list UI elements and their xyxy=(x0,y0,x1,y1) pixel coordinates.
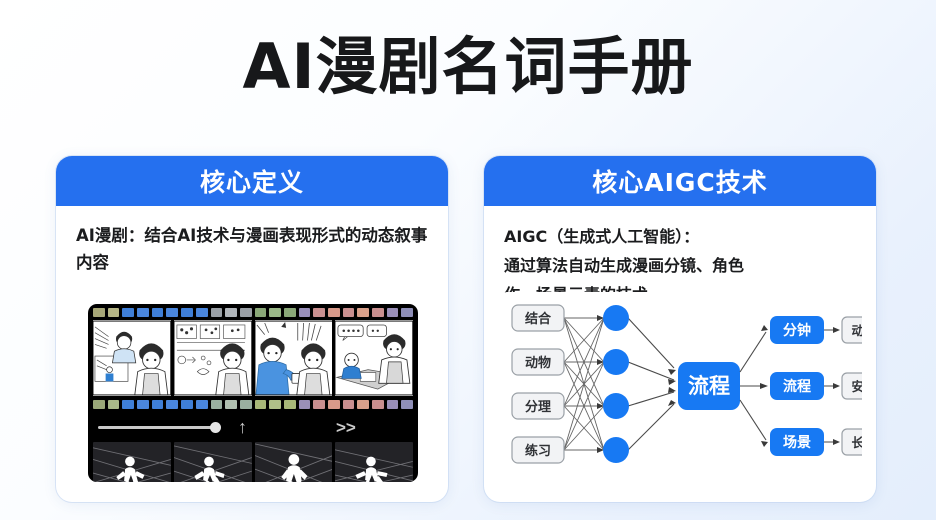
sprocket-square xyxy=(328,400,340,409)
sprocket-square xyxy=(122,400,134,409)
motion-frame xyxy=(93,442,171,482)
sprocket-square xyxy=(108,308,120,317)
diagram-mid-label: 场景 xyxy=(783,435,811,451)
card-header-core-aigc-tech: 核心AIGC技术 xyxy=(484,156,876,206)
comic-panel-art-4 xyxy=(335,320,413,396)
sprocket-square xyxy=(313,308,325,317)
sprocket-square xyxy=(225,400,237,409)
sprocket-square xyxy=(137,308,149,317)
diagram-mid-label: 分钟 xyxy=(783,322,811,339)
playback-control-bar: ↑ >> xyxy=(88,412,418,442)
motion-frame xyxy=(255,442,333,482)
sprocket-square xyxy=(93,308,105,317)
hidden-node xyxy=(603,393,629,419)
sprocket-square xyxy=(372,308,384,317)
sprocket-square xyxy=(196,400,208,409)
sprocket-square xyxy=(299,400,311,409)
sprocket-square xyxy=(152,400,164,409)
comic-panel-row xyxy=(88,320,418,396)
definition-text: AI漫剧：结合AI技术与漫画表现形式的动态叙事内容 xyxy=(76,222,428,276)
walking-person-icon xyxy=(93,442,171,482)
sprocket-square xyxy=(284,400,296,409)
sprocket-square xyxy=(284,308,296,317)
timeline-slider-knob[interactable] xyxy=(210,422,221,433)
sprocket-square xyxy=(137,400,149,409)
diagram-final-label: 动态 xyxy=(851,323,862,338)
sprocket-square xyxy=(313,400,325,409)
sprocket-square xyxy=(343,400,355,409)
sprocket-square xyxy=(357,308,369,317)
sprocket-square xyxy=(122,308,134,317)
sprocket-square xyxy=(108,400,120,409)
comic-panel xyxy=(335,320,413,396)
card-body-core-definition: AI漫剧：结合AI技术与漫画表现形式的动态叙事内容 xyxy=(56,206,448,276)
hidden-node xyxy=(603,437,629,463)
sprocket-square xyxy=(93,400,105,409)
sprocket-square xyxy=(401,308,413,317)
sprocket-square xyxy=(240,308,252,317)
sprocket-square xyxy=(255,400,267,409)
sprocket-square xyxy=(269,308,281,317)
diagram-mid-label: 流程 xyxy=(783,378,811,395)
film-strip-media: ↑ >> xyxy=(88,304,418,482)
sprocket-square xyxy=(387,400,399,409)
diagram-input-label: 动物 xyxy=(525,355,551,371)
sprocket-square xyxy=(343,308,355,317)
motion-frame xyxy=(335,442,413,482)
comic-panel-art-1 xyxy=(93,320,171,396)
sprocket-square xyxy=(211,308,223,317)
neural-flow-diagram: 结合 动物 分理 练习 xyxy=(498,292,862,488)
sprocket-square xyxy=(269,400,281,409)
comic-panel xyxy=(93,320,171,396)
diagram-input-label: 练习 xyxy=(525,443,551,459)
sprocket-square xyxy=(152,308,164,317)
walking-person-icon xyxy=(255,442,333,482)
motion-frame xyxy=(174,442,252,482)
fast-forward-icon[interactable]: >> xyxy=(336,419,356,436)
up-arrow-icon[interactable]: ↑ xyxy=(238,418,247,436)
card-header-core-definition: 核心定义 xyxy=(56,156,448,206)
diagram-center-label: 流程 xyxy=(688,374,730,398)
sprocket-square xyxy=(181,400,193,409)
sprocket-square xyxy=(401,400,413,409)
sprocket-row-bottom xyxy=(88,396,418,412)
hidden-node xyxy=(603,305,629,331)
hidden-node xyxy=(603,349,629,375)
card-core-definition: 核心定义 AI漫剧：结合AI技术与漫画表现形式的动态叙事内容 xyxy=(56,156,448,502)
sprocket-square xyxy=(211,400,223,409)
sprocket-row-top xyxy=(88,304,418,320)
comic-panel-art-2 xyxy=(174,320,252,396)
sprocket-square xyxy=(166,400,178,409)
sprocket-square xyxy=(255,308,267,317)
sprocket-square xyxy=(240,400,252,409)
page-title: AI漫剧名词手册 xyxy=(0,34,936,99)
sprocket-square xyxy=(387,308,399,317)
sprocket-square xyxy=(166,308,178,317)
sprocket-square xyxy=(357,400,369,409)
sprocket-square xyxy=(196,308,208,317)
walking-person-icon xyxy=(174,442,252,482)
card-core-aigc-tech: 核心AIGC技术 AIGC（生成式人工智能）： 通过算法自动生成漫画分镜、角色 … xyxy=(484,156,876,502)
sprocket-square xyxy=(328,308,340,317)
diagram-input-label: 分理 xyxy=(525,399,551,415)
timeline-slider[interactable] xyxy=(98,426,216,429)
sprocket-square xyxy=(372,400,384,409)
diagram-final-label: 安晟 xyxy=(851,379,862,394)
diagram-final-label: 长差 xyxy=(851,435,862,450)
comic-panel xyxy=(174,320,252,396)
comic-panel-art-3 xyxy=(255,320,333,396)
sprocket-square xyxy=(225,308,237,317)
comic-panel xyxy=(255,320,333,396)
sprocket-square xyxy=(299,308,311,317)
diagram-input-label: 结合 xyxy=(525,311,552,327)
walking-person-icon xyxy=(335,442,413,482)
diagram-canvas: 结合 动物 分理 练习 xyxy=(498,292,862,488)
poster-root: AI漫剧名词手册 核心定义 AI漫剧：结合AI技术与漫画表现形式的动态叙事内容 xyxy=(0,0,936,520)
motion-frame-row xyxy=(88,442,418,482)
sprocket-square xyxy=(181,308,193,317)
